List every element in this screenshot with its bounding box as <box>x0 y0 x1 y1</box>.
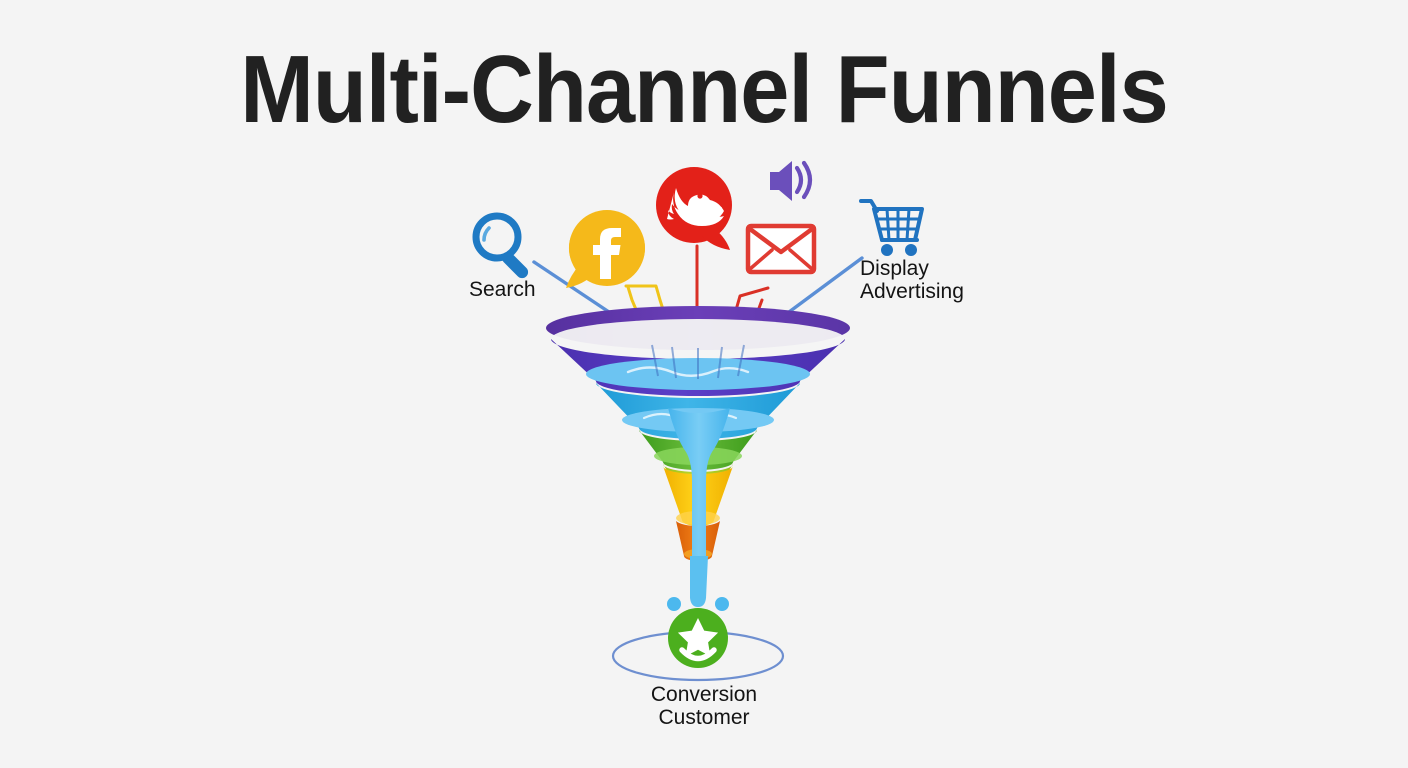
conversion-customer-label: Conversion Customer <box>0 683 1408 729</box>
liquid-droplet-right <box>715 597 729 611</box>
conversion-line1: Conversion <box>0 683 1408 706</box>
display-advertising-line1: Display <box>860 257 929 280</box>
funnel-spout-stream <box>690 556 708 607</box>
funnel-illustration <box>0 0 1408 768</box>
twitter-bird-bubble-icon[interactable] <box>656 167 732 250</box>
channel-label-display-advertising: Display Advertising <box>860 257 964 303</box>
envelope-icon[interactable] <box>748 226 814 272</box>
magnifier-icon[interactable] <box>476 216 531 281</box>
speaker-icon[interactable] <box>770 161 810 201</box>
facebook-bubble-icon[interactable] <box>566 210 645 288</box>
liquid-droplet-left <box>667 597 681 611</box>
conversion-line2: Customer <box>0 706 1408 729</box>
funnel-graphic <box>546 306 850 611</box>
conversion-outcome <box>613 608 783 680</box>
channel-label-search: Search <box>469 279 536 301</box>
diagram-canvas: Multi-Channel Funnels <box>0 0 1408 768</box>
shopping-cart-icon[interactable] <box>861 201 922 256</box>
display-advertising-line2: Advertising <box>860 280 964 303</box>
